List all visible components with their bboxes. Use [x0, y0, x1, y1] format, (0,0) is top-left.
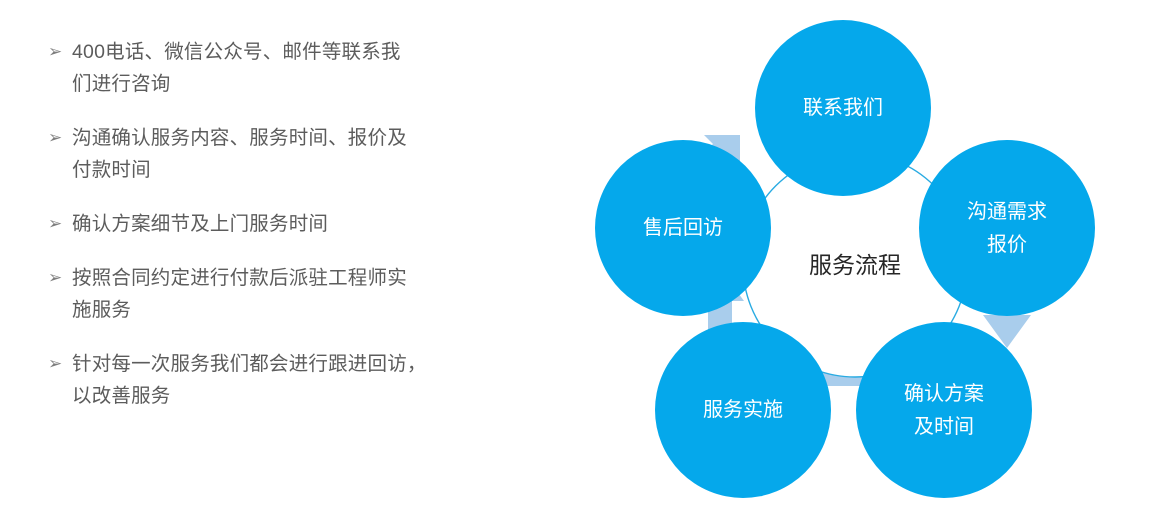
service-process-cycle-diagram: 服务流程 联系我们 沟通需求 报价 确认方案 及时间 服	[595, 18, 1140, 513]
list-item: ➢ 400电话、微信公众号、邮件等联系我 们进行咨询	[48, 36, 518, 100]
node-quote-label-line2: 报价	[987, 233, 1027, 256]
arrow-bullet-icon: ➢	[48, 36, 72, 68]
list-item-text: 400电话、微信公众号、邮件等联系我 们进行咨询	[72, 36, 518, 100]
node-followup[interactable]: 售后回访	[595, 140, 771, 316]
arrow-bullet-icon: ➢	[48, 208, 72, 240]
node-confirm[interactable]: 确认方案 及时间	[856, 322, 1032, 498]
node-confirm-label-line1: 确认方案	[904, 382, 984, 405]
node-confirm-label-line2: 及时间	[914, 415, 974, 438]
arrow-bullet-icon: ➢	[48, 262, 72, 294]
node-deliver[interactable]: 服务实施	[655, 322, 831, 498]
list-item-text: 按照合同约定进行付款后派驻工程师实 施服务	[72, 262, 518, 326]
node-quote[interactable]: 沟通需求 报价	[919, 140, 1095, 316]
node-contact-label-line1: 联系我们	[803, 96, 883, 119]
center-label: 服务流程	[809, 252, 901, 278]
service-steps-list: ➢ 400电话、微信公众号、邮件等联系我 们进行咨询 ➢ 沟通确认服务内容、服务…	[48, 36, 518, 434]
list-item-text: 针对每一次服务我们都会进行跟进回访， 以改善服务	[72, 348, 518, 412]
slide-canvas: ➢ 400电话、微信公众号、邮件等联系我 们进行咨询 ➢ 沟通确认服务内容、服务…	[0, 0, 1150, 525]
arrow-bullet-icon: ➢	[48, 122, 72, 154]
node-quote-circle[interactable]	[919, 140, 1095, 316]
list-item-text: 确认方案细节及上门服务时间	[72, 208, 518, 240]
node-contact[interactable]: 联系我们	[755, 20, 931, 196]
list-item: ➢ 确认方案细节及上门服务时间	[48, 208, 518, 240]
arrow-bullet-icon: ➢	[48, 348, 72, 380]
node-confirm-circle[interactable]	[856, 322, 1032, 498]
node-quote-label-line1: 沟通需求	[967, 200, 1047, 223]
node-deliver-label-line1: 服务实施	[703, 398, 783, 421]
list-item: ➢ 针对每一次服务我们都会进行跟进回访， 以改善服务	[48, 348, 518, 412]
node-followup-label-line1: 售后回访	[643, 216, 723, 239]
list-item-text: 沟通确认服务内容、服务时间、报价及 付款时间	[72, 122, 518, 186]
list-item: ➢ 按照合同约定进行付款后派驻工程师实 施服务	[48, 262, 518, 326]
list-item: ➢ 沟通确认服务内容、服务时间、报价及 付款时间	[48, 122, 518, 186]
